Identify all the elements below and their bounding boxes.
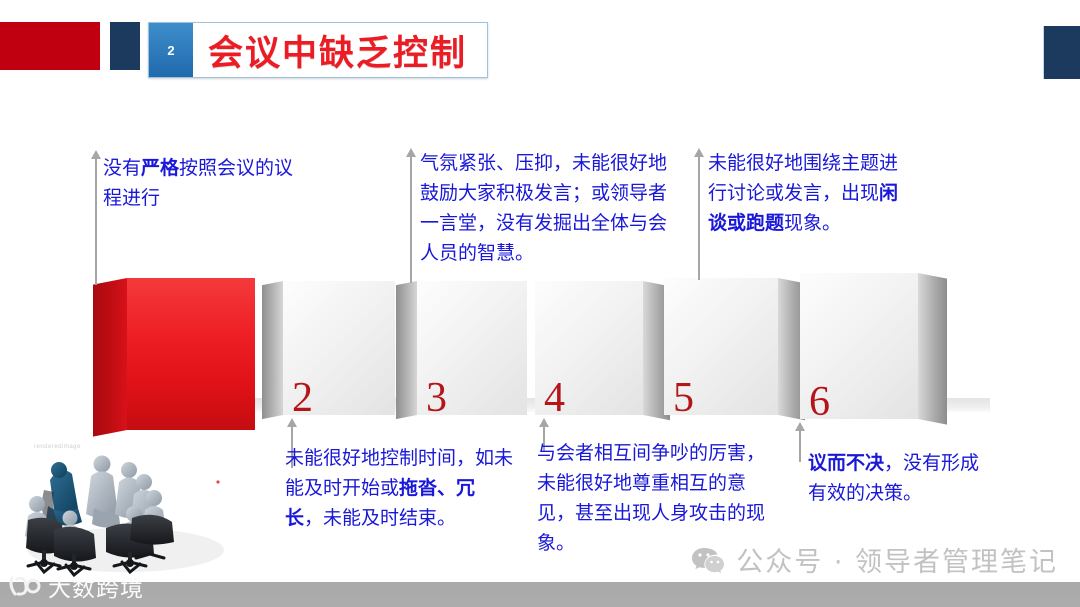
watermark-right: 公众号 · 领导者管理笔记 bbox=[691, 540, 1058, 579]
callout-text-3: 气氛紧张、压抑，未能很好地鼓励大家积极发言；或领导者一言堂，没有发掘出全体与会人… bbox=[420, 148, 682, 268]
box-side-face bbox=[262, 281, 283, 419]
step-box-2[interactable]: 2 bbox=[283, 281, 395, 415]
step-box-number: 4 bbox=[544, 377, 565, 419]
illustration-caption: renderedimage bbox=[34, 444, 81, 450]
wechat-icon bbox=[691, 545, 725, 575]
callout-arrow-6 bbox=[795, 422, 806, 462]
step-box-number: 6 bbox=[809, 381, 830, 423]
step-box-number: 5 bbox=[673, 377, 694, 419]
meeting-illustration: renderedimage bbox=[6, 432, 256, 582]
box-side-face bbox=[93, 278, 127, 437]
watermark-left-label: 大数跨境 bbox=[48, 569, 144, 603]
bottom-watermark-bar bbox=[0, 582, 1080, 607]
step-box-4[interactable]: 4 bbox=[535, 281, 643, 415]
arrow-shaft bbox=[95, 156, 97, 285]
step-box-number: 3 bbox=[426, 377, 447, 419]
step-box-3[interactable]: 3 bbox=[417, 281, 527, 415]
callout-6-bold: 议而不决 bbox=[808, 452, 884, 474]
callout-1-pre: 没有 bbox=[103, 157, 141, 179]
callout-text-1: 没有严格按照会议的议程进行 bbox=[103, 153, 303, 213]
box-side-face bbox=[396, 281, 417, 419]
step-box-1-red[interactable] bbox=[127, 278, 255, 430]
callout-text-6: 议而不决，没有形成有效的决策。 bbox=[808, 448, 998, 508]
watermark-left: 大数跨境 bbox=[8, 569, 144, 603]
callout-arrow-1 bbox=[91, 150, 102, 285]
arrow-shaft bbox=[698, 154, 700, 280]
callout-1-bold: 严格 bbox=[141, 157, 179, 179]
step-box-6[interactable]: 6 bbox=[800, 273, 918, 419]
callout-arrow-5 bbox=[694, 148, 705, 280]
callout-text-5: 未能很好地围绕主题进行讨论或发言，出现闲谈或跑题现象。 bbox=[708, 148, 914, 238]
meeting-illustration-graphic bbox=[6, 432, 256, 582]
callout-3-pre: 气氛紧张、压抑，未能很好地鼓励大家积极发言；或领导者一言堂，没有发掘出全体与会人… bbox=[420, 152, 667, 264]
callout-4-pre: 与会者相互间争吵的厉害，未能很好地尊重相互的意见，甚至出现人身攻击的现象。 bbox=[537, 442, 765, 554]
callout-2-post: ，未能及时结束。 bbox=[304, 507, 456, 529]
arrow-shaft bbox=[410, 154, 412, 283]
box-side-face bbox=[918, 273, 947, 425]
box-front-face bbox=[127, 278, 255, 430]
dashukuajing-logo-icon bbox=[8, 575, 42, 597]
arrow-shaft bbox=[799, 428, 801, 462]
callout-arrow-3 bbox=[406, 148, 417, 283]
step-box-5[interactable]: 5 bbox=[664, 278, 778, 415]
callout-text-2: 未能很好地控制时间，如未能及时开始或拖沓、冗长，未能及时结束。 bbox=[285, 443, 513, 533]
step-box-number: 2 bbox=[292, 377, 313, 419]
callout-5-post: 现象。 bbox=[784, 212, 841, 234]
callout-5-pre: 未能很好地围绕主题进行讨论或发言，出现 bbox=[708, 152, 898, 204]
watermark-right-label: 公众号 · 领导者管理笔记 bbox=[736, 540, 1058, 579]
